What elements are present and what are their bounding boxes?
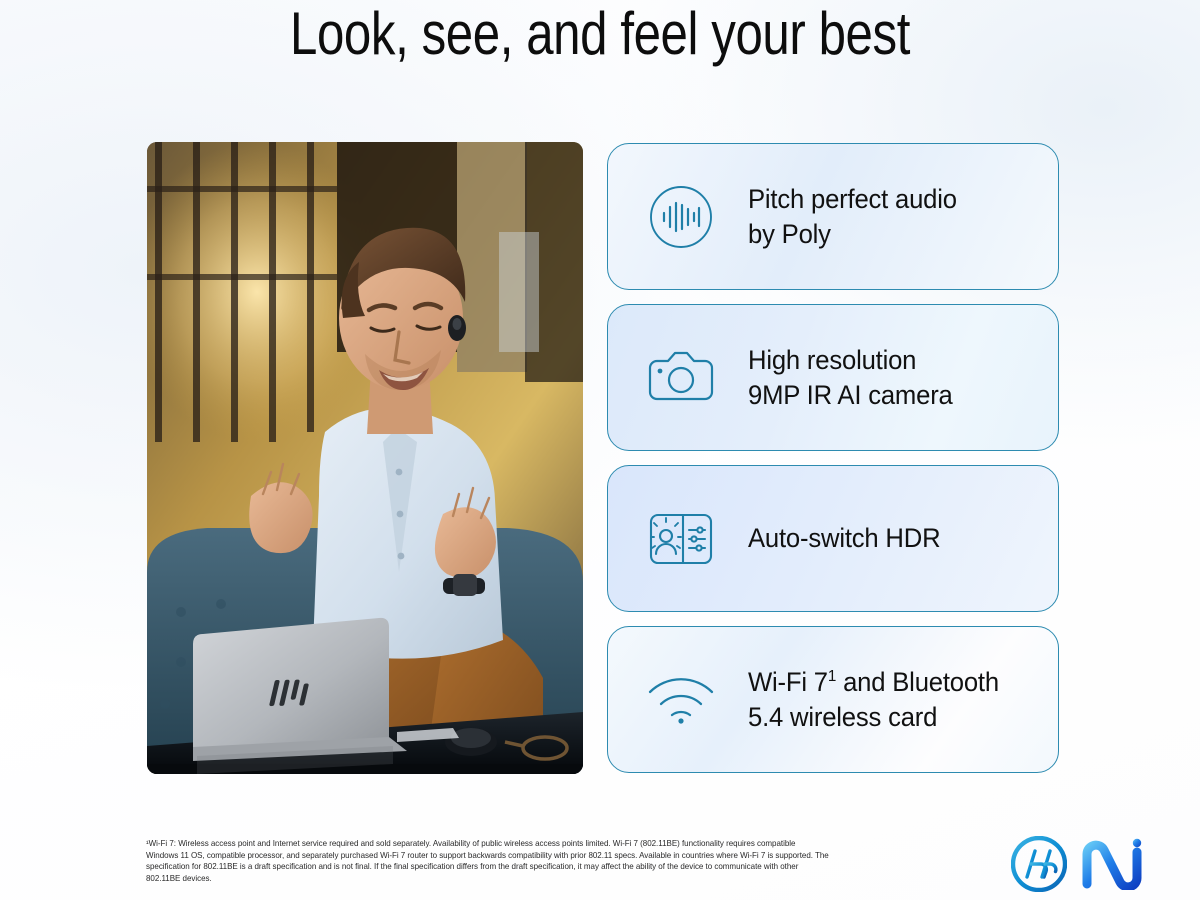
marketing-page: Look, see, and feel your best <box>0 0 1200 900</box>
wifi-label-part-2: and Bluetooth <box>843 667 999 697</box>
photo-illustration <box>147 142 583 774</box>
feature-card-hdr[interactable]: Auto-switch HDR <box>607 465 1059 612</box>
feature-card-hdr-label: Auto-switch HDR <box>748 521 940 556</box>
wifi-label-part-1: Wi-Fi 7 <box>748 667 828 697</box>
feature-card-camera-label: High resolution 9MP IR AI camera <box>748 343 953 413</box>
wifi-label-part-3: 5.4 wireless card <box>748 702 937 732</box>
feature-card-wifi[interactable]: Wi-Fi 71 and Bluetooth5.4 wireless card <box>607 626 1059 773</box>
feature-card-camera[interactable]: High resolution 9MP IR AI camera <box>607 304 1059 451</box>
feature-card-list: Pitch perfect audio by Poly High resolut… <box>607 143 1059 773</box>
wifi-signal-icon <box>644 663 718 737</box>
camera-icon <box>644 341 718 415</box>
product-lifestyle-photo <box>147 142 583 774</box>
audio-waveform-circle-icon <box>644 180 718 254</box>
page-title: Look, see, and feel your best <box>108 0 1092 70</box>
feature-card-audio-label: Pitch perfect audio by Poly <box>748 182 957 252</box>
feature-card-audio[interactable]: Pitch perfect audio by Poly <box>607 143 1059 290</box>
logo-group <box>1011 836 1145 892</box>
feature-card-wifi-label: Wi-Fi 71 and Bluetooth5.4 wireless card <box>748 665 999 735</box>
ai-ribbon-logo <box>1081 838 1145 890</box>
hdr-auto-switch-icon <box>644 502 718 576</box>
wifi-footnote-superscript: 1 <box>828 668 836 685</box>
hp-logo <box>1011 836 1067 892</box>
footnote-disclaimer: ¹Wi-Fi 7: Wireless access point and Inte… <box>146 838 829 884</box>
